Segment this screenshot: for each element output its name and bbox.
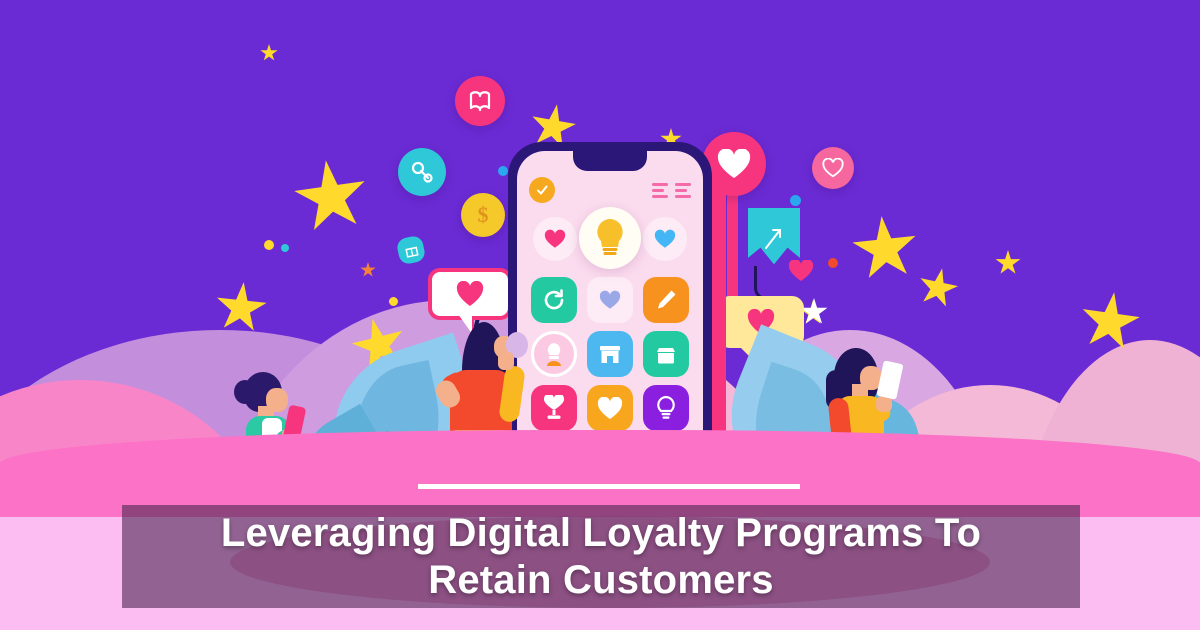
tablet-device (876, 360, 903, 399)
menu-col (652, 183, 668, 198)
heart-badge-icon (812, 147, 854, 189)
page-title-line-1: Leveraging Digital Loyalty Programs To (221, 511, 981, 555)
dot-decor (389, 297, 398, 306)
gift-bag-icon[interactable] (643, 331, 689, 377)
key-badge-icon (398, 148, 446, 196)
star-icon (995, 250, 1021, 276)
heart-icon (533, 217, 577, 261)
dot-decor (281, 244, 289, 252)
lightbulb-icon (579, 207, 641, 269)
umbrella-handle (754, 266, 776, 300)
heart-book-badge-icon (455, 76, 505, 126)
star-icon (914, 264, 961, 311)
star-icon (800, 298, 828, 326)
small-tile-icon (396, 235, 427, 266)
lightbulb-icon[interactable] (643, 385, 689, 431)
divider-rule (418, 484, 800, 489)
loyalty-program-banner: $ (0, 0, 1200, 630)
coin-check-icon (529, 177, 555, 203)
star-icon (212, 279, 269, 336)
star-icon (289, 155, 373, 239)
hair-bun (234, 380, 256, 404)
heart-speech-bubble-icon (428, 268, 512, 320)
heart-icon[interactable] (587, 385, 633, 431)
star-icon (360, 262, 376, 278)
heart-small-icon (788, 260, 814, 282)
phone-notch (573, 151, 647, 171)
dot-decor (790, 195, 801, 206)
heart-icon (643, 217, 687, 261)
menu-col (675, 183, 691, 198)
page-title-line-2: Retain Customers (428, 558, 774, 602)
dot-decor (828, 258, 838, 268)
dollar-coin-icon: $ (461, 193, 505, 237)
star-icon (849, 213, 922, 286)
store-icon[interactable] (587, 331, 633, 377)
refresh-icon[interactable] (531, 277, 577, 323)
star-icon (260, 44, 278, 62)
title-overlay: Leveraging Digital Loyalty Programs To R… (122, 505, 1080, 608)
page-title: Leveraging Digital Loyalty Programs To R… (209, 510, 993, 603)
pencil-icon[interactable] (643, 277, 689, 323)
dot-decor (498, 166, 508, 176)
menu-lines-icon[interactable] (652, 183, 691, 198)
dot-decor (264, 240, 274, 250)
heart-icon[interactable] (587, 277, 633, 323)
hand (498, 352, 514, 370)
